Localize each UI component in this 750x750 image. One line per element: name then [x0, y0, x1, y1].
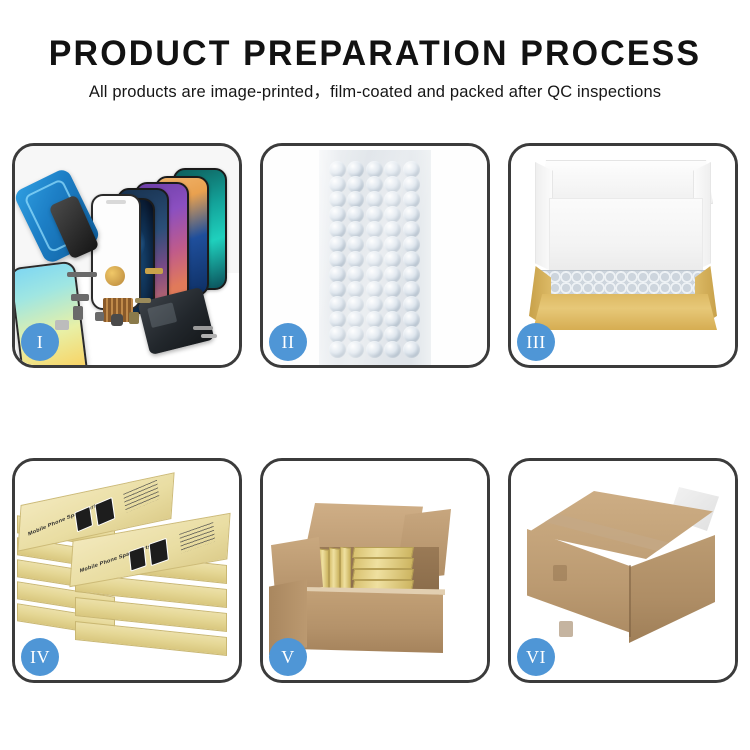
process-step-panel-6[interactable]: VI	[508, 458, 738, 683]
antenna-part-icon	[135, 298, 151, 303]
step-badge-4: IV	[21, 638, 59, 676]
process-step-grid: I	[12, 143, 738, 683]
step-badge-3: III	[517, 323, 555, 361]
flex-cable-part-icon	[67, 272, 97, 277]
inner-box-packing-image: III	[511, 146, 735, 365]
vibrator-part-icon	[111, 314, 123, 326]
bubble-wrap-sheet-icon	[319, 150, 431, 365]
box-interior-icon	[549, 198, 703, 278]
carton-handle-tab-icon	[553, 565, 567, 581]
screw-plate-part-icon	[95, 312, 104, 321]
process-step-panel-1[interactable]: I	[12, 143, 242, 368]
bubble-wrap-contents-icon	[539, 270, 711, 297]
step-badge-2: II	[269, 323, 307, 361]
process-step-panel-2[interactable]: II	[260, 143, 490, 368]
phone-photo-icon	[149, 538, 169, 567]
page-header: PRODUCT PREPARATION PROCESS All products…	[0, 0, 750, 101]
carton-filling-image: V	[263, 461, 487, 680]
screen-glass-icon	[91, 194, 141, 310]
process-step-panel-4[interactable]: Mobile Phone Spare Parts Mobile Phone Sp…	[12, 458, 242, 683]
carton-edge-seam	[629, 565, 631, 637]
step-badge-6: VI	[517, 638, 555, 676]
carton-sealed-image: VI	[511, 461, 735, 680]
carton-handle-tab-icon	[559, 621, 573, 637]
process-step-panel-5[interactable]: V	[260, 458, 490, 683]
carton-contents	[307, 547, 441, 593]
page-subtitle: All products are image-printed，film-coat…	[0, 71, 750, 101]
button-part-icon	[73, 306, 83, 320]
boxes-stacked-image: Mobile Phone Spare Parts Mobile Phone Sp…	[15, 461, 239, 680]
step-badge-1: I	[21, 323, 59, 361]
products-display-image: I	[15, 146, 239, 365]
carton-front-panel-icon	[303, 591, 443, 653]
tweezers-tool-icon	[193, 326, 213, 330]
box-front-panel-icon	[533, 294, 717, 330]
battery-connector-part-icon	[55, 320, 69, 330]
camera-module-part-icon	[71, 294, 89, 301]
step-badge-5: V	[269, 638, 307, 676]
process-step-panel-3[interactable]: III	[508, 143, 738, 368]
phone-photo-icon	[128, 546, 146, 572]
sim-tray-part-icon	[129, 312, 139, 324]
spec-text-lines	[179, 522, 215, 553]
bubble-grid	[329, 162, 421, 358]
gold-connector-part-icon	[145, 268, 163, 274]
spec-text-lines	[123, 480, 160, 513]
screwdriver-tool-icon	[201, 334, 217, 338]
speaker-part-icon	[105, 266, 125, 286]
bubble-wrap-image: II	[263, 146, 487, 365]
page-title: PRODUCT PREPARATION PROCESS	[11, 0, 739, 71]
